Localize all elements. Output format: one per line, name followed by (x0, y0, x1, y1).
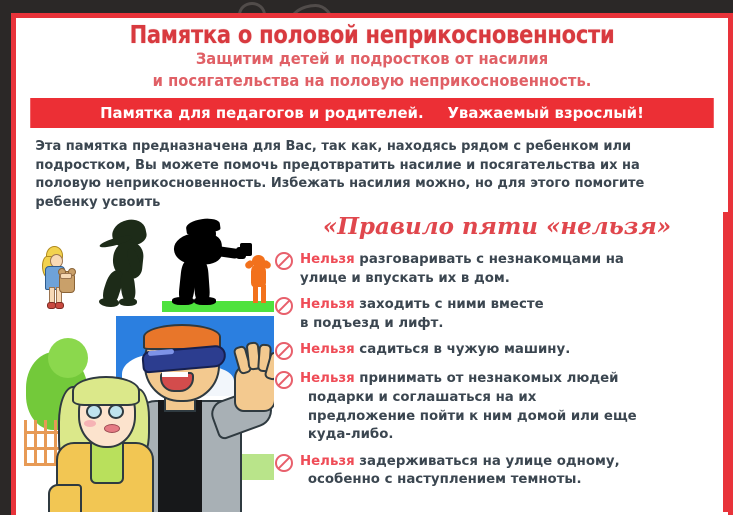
rule-line-5-2: особенно с наступлением темноты. (300, 470, 620, 489)
rule-item-1: Нельзя разговаривать с незнакомцами на у… (274, 250, 728, 287)
girl-in-yellow-coat-figure (48, 374, 166, 512)
rule-keyword-4: Нельзя (300, 370, 355, 386)
rule-text-1: Нельзя разговаривать с незнакомцами на у… (300, 250, 624, 287)
rules-heading: «Правило пяти «нельзя» (274, 212, 728, 242)
rule-line-4-2: подарки и соглашаться на их (300, 388, 637, 407)
rule-keyword-1: Нельзя (300, 251, 355, 267)
scene-stranger-offering-gift (162, 217, 274, 317)
rule-line-2-1: заходить с ними вместе (355, 296, 544, 312)
rule-keyword-2: Нельзя (300, 296, 355, 312)
rule-item-5: Нельзя задерживаться на улице одному, ос… (274, 452, 728, 489)
rules-column: «Правило пяти «нельзя» Нельзя разговарив… (274, 212, 728, 497)
lurking-silhouette-figure (91, 220, 163, 312)
rule-line-2-2: в подъезд и лифт. (300, 314, 544, 333)
prohibition-icon (274, 296, 294, 316)
intro-paragraph: Эта памятка предназначена для Вас, так к… (16, 128, 707, 212)
rule-line-1-2: улице и впускать их в дом. (300, 269, 624, 288)
poster-root: Памятка о половой неприкосновенности Защ… (0, 0, 733, 515)
tree-foliage-top (48, 338, 88, 378)
rule-text-4: Нельзя принимать от незнакомых людей под… (300, 369, 637, 443)
rules-list: Нельзя разговаривать с незнакомцами на у… (274, 250, 728, 489)
banner-text-right: Уважаемый взрослый! (447, 104, 643, 122)
prohibition-icon (274, 251, 294, 271)
body-columns: «Правило пяти «нельзя» Нельзя разговарив… (16, 212, 728, 512)
prohibition-icon (274, 453, 294, 473)
scene-man-and-girl (24, 316, 274, 512)
prohibition-icon (274, 370, 294, 390)
rule-item-2: Нельзя заходить с ними вместе в подъезд … (274, 295, 728, 332)
rule-line-5-1: задерживаться на улице одному, (355, 453, 620, 469)
illustration-column (16, 212, 274, 512)
rule-text-3: Нельзя садиться в чужую машину. (300, 340, 570, 359)
subtitle-line-2: и посягательства на половую неприкоснове… (57, 70, 686, 92)
rule-keyword-3: Нельзя (300, 341, 355, 357)
rule-line-4-1: принимать от незнакомых людей (355, 370, 619, 386)
banner-text-left: Памятка для педагогов и родителей. (100, 104, 424, 122)
rule-line-4-4: куда-либо. (300, 425, 637, 444)
right-border-bar (723, 212, 728, 512)
intro-text: Эта памятка предназначена для Вас, так к… (35, 138, 691, 212)
girl-with-teddy-figure (38, 246, 70, 308)
rule-line-4-3: предложение пойти к ним домой или еще (300, 407, 637, 426)
rule-keyword-5: Нельзя (300, 453, 355, 469)
poster-card: Памятка о половой неприкосновенности Защ… (11, 13, 733, 515)
rule-text-5: Нельзя задерживаться на улице одному, ос… (300, 452, 620, 489)
rule-line-3-1: садиться в чужую машину. (355, 341, 571, 357)
subtitle-line-1: Защитим детей и подростков от насилия (57, 48, 686, 70)
rule-line-1-1: разговаривать с незнакомцами на (355, 251, 624, 267)
rule-item-3: Нельзя садиться в чужую машину. (274, 340, 728, 361)
rule-item-4: Нельзя принимать от незнакомых людей под… (274, 369, 728, 443)
page-title: Памятка о половой неприкосновенности (85, 21, 660, 48)
scene-top (16, 212, 274, 317)
red-banner: Памятка для педагогов и родителей. Уважа… (30, 98, 714, 128)
prohibition-icon (274, 341, 294, 361)
title-block: Памятка о половой неприкосновенности Защ… (16, 18, 728, 98)
rule-text-2: Нельзя заходить с ними вместе в подъезд … (300, 295, 544, 332)
